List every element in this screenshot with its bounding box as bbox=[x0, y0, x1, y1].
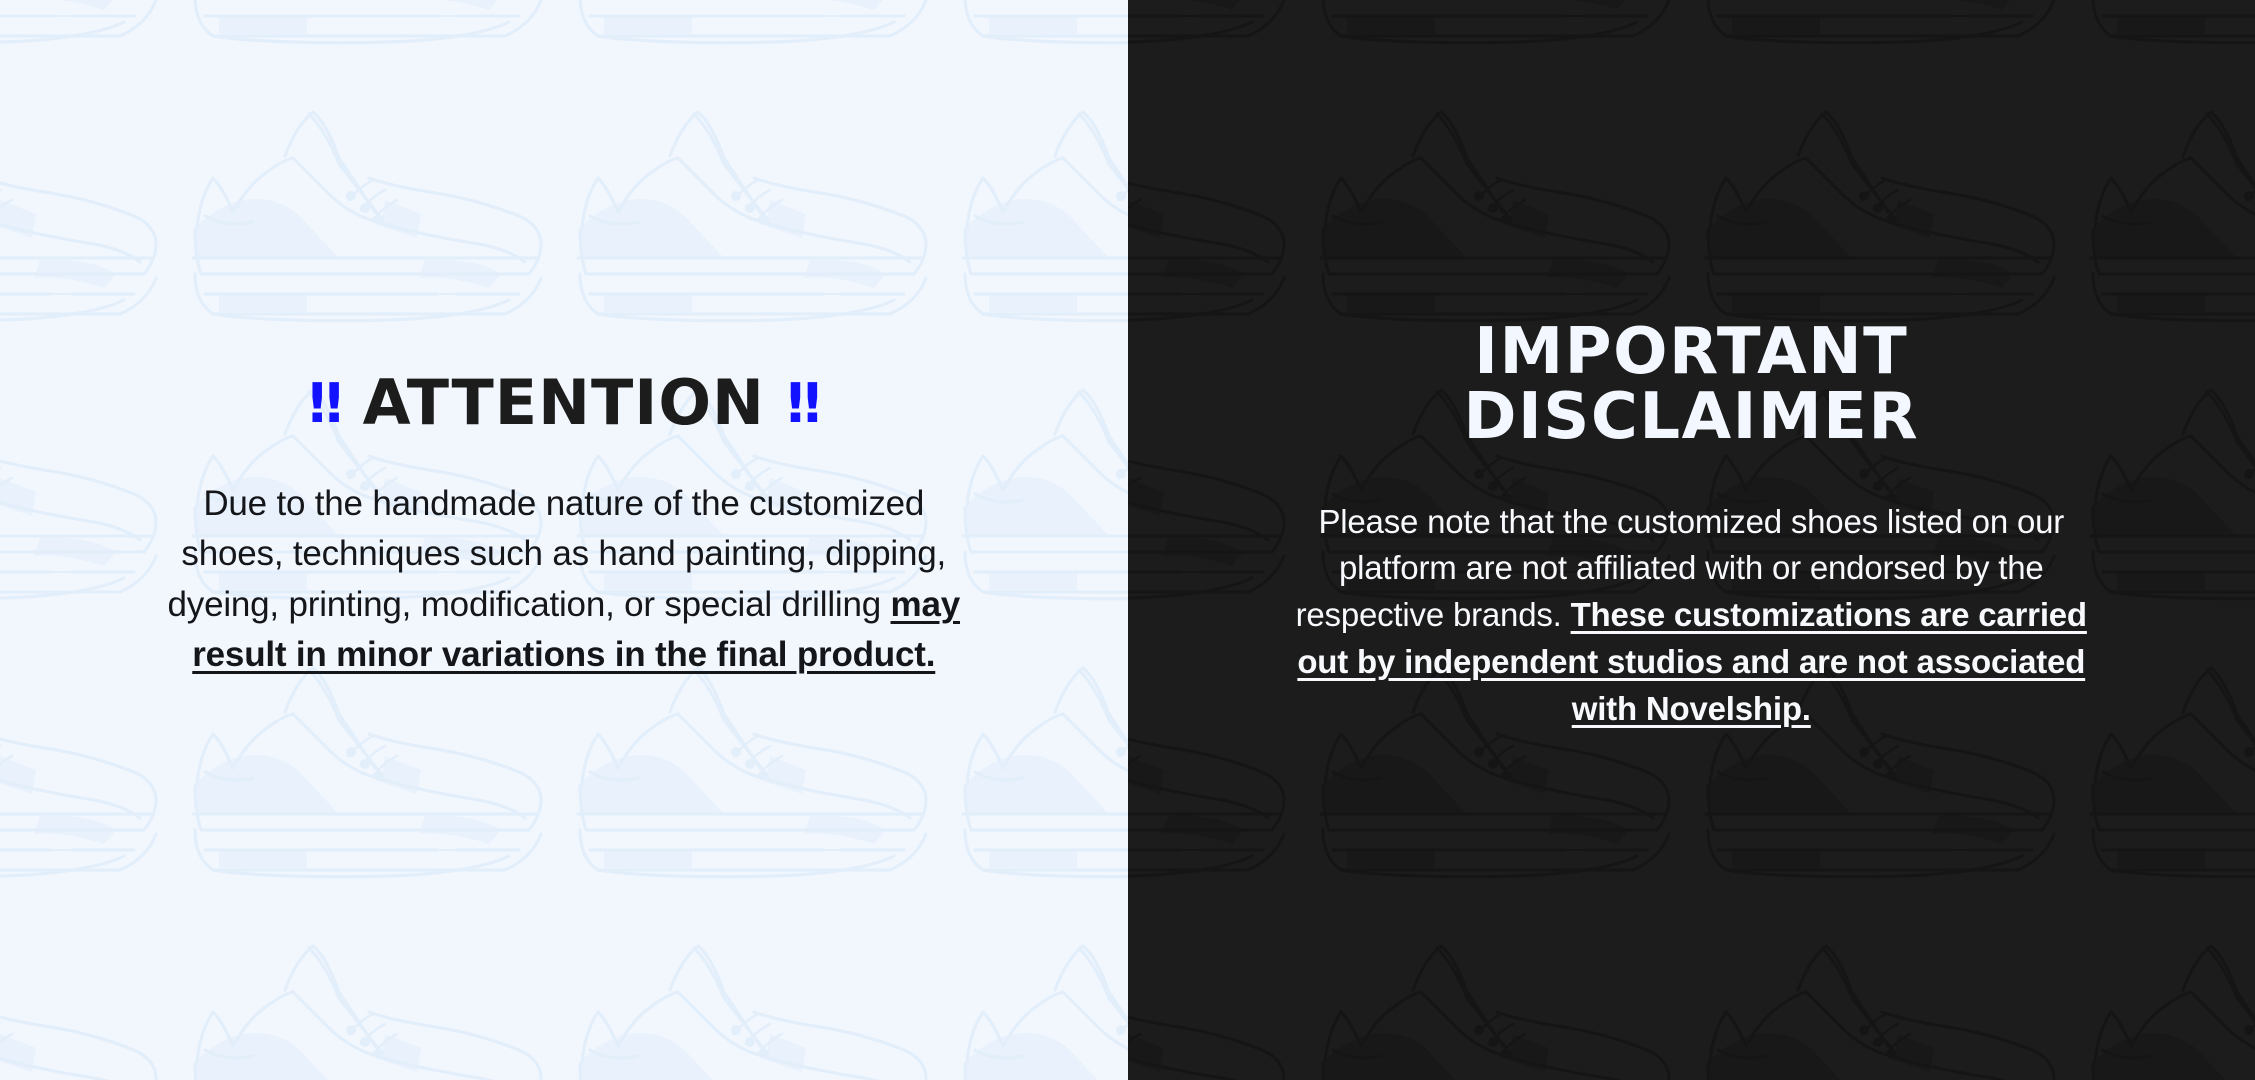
attention-content: ‼ATTENTION‼ Due to the handmade nature o… bbox=[0, 0, 1128, 681]
disclaimer-heading: IMPORTANT DISCLAIMER bbox=[1463, 320, 1919, 451]
disclaimer-content: IMPORTANT DISCLAIMER Please note that th… bbox=[1128, 0, 2255, 733]
disclaimer-heading-line-1: IMPORTANT bbox=[1463, 320, 1919, 385]
attention-panel: ‼ATTENTION‼ Due to the handmade nature o… bbox=[0, 0, 1128, 1080]
attention-heading-word: ATTENTION bbox=[363, 366, 765, 439]
attention-body-text: Due to the handmade nature of the custom… bbox=[164, 479, 964, 681]
disclaimer-heading-line-2: DISCLAIMER bbox=[1463, 385, 1919, 450]
attention-body-normal: Due to the handmade nature of the custom… bbox=[168, 484, 947, 624]
double-exclamation-icon-right: ‼ bbox=[787, 372, 819, 435]
attention-heading: ‼ATTENTION‼ bbox=[309, 370, 819, 435]
disclaimer-panel: IMPORTANT DISCLAIMER Please note that th… bbox=[1128, 0, 2255, 1080]
disclaimer-body-text: Please note that the customized shoes li… bbox=[1281, 499, 2101, 733]
double-exclamation-icon-left: ‼ bbox=[309, 372, 341, 435]
